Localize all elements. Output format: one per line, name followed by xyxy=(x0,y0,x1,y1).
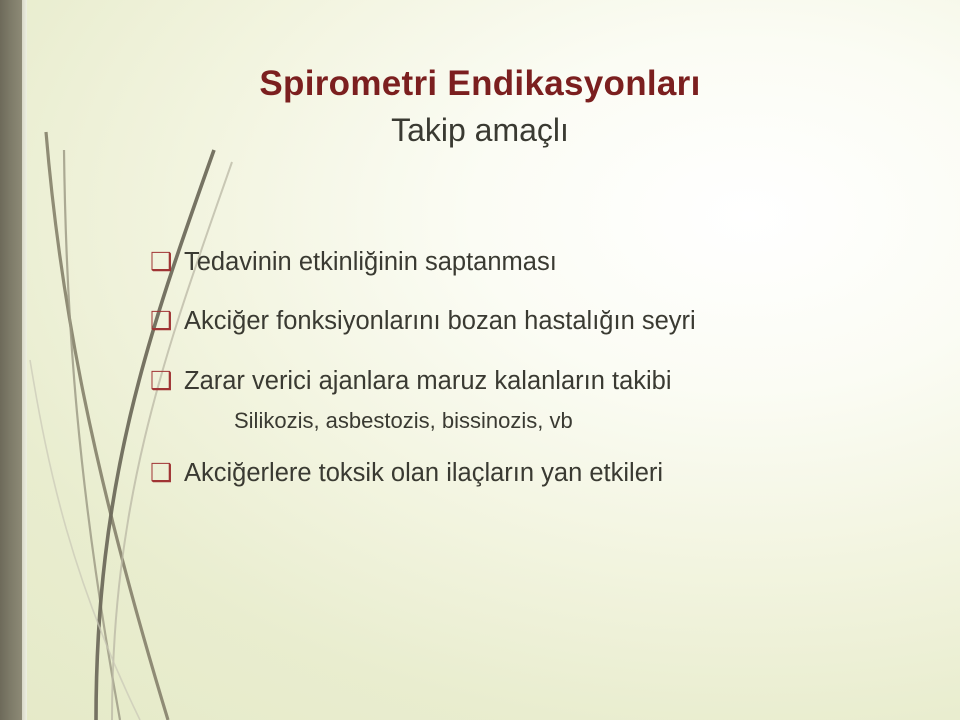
list-item: ❑ Akciğer fonksiyonlarını bozan hastalığ… xyxy=(150,307,940,336)
bullet-list: ❑ Tedavinin etkinliğinin saptanması ❑ Ak… xyxy=(150,248,940,519)
list-item-sublabel: Silikozis, asbestozis, bissinozis, vb xyxy=(234,408,940,433)
page-title: Spirometri Endikasyonları xyxy=(0,64,960,103)
page-subtitle: Takip amaçlı xyxy=(0,113,960,149)
title-block: Spirometri Endikasyonları Takip amaçlı xyxy=(0,64,960,149)
list-item: ❑ Tedavinin etkinliğinin saptanması xyxy=(150,248,940,277)
list-item-label: Tedavinin etkinliğinin saptanması xyxy=(184,248,940,277)
bullet-square-icon: ❑ xyxy=(150,367,184,395)
list-item: ❑ Akciğerlere toksik olan ilaçların yan … xyxy=(150,459,940,488)
list-item-label: Akciğer fonksiyonlarını bozan hastalığın… xyxy=(184,307,940,336)
bullet-square-icon: ❑ xyxy=(150,307,184,335)
list-item: ❑ Zarar verici ajanlara maruz kalanların… xyxy=(150,367,940,396)
bullet-square-icon: ❑ xyxy=(150,248,184,276)
bullet-square-icon: ❑ xyxy=(150,459,184,487)
list-item-label: Akciğerlere toksik olan ilaçların yan et… xyxy=(184,459,940,488)
list-item-label: Zarar verici ajanlara maruz kalanların t… xyxy=(184,367,940,396)
slide: Spirometri Endikasyonları Takip amaçlı ❑… xyxy=(0,0,960,720)
